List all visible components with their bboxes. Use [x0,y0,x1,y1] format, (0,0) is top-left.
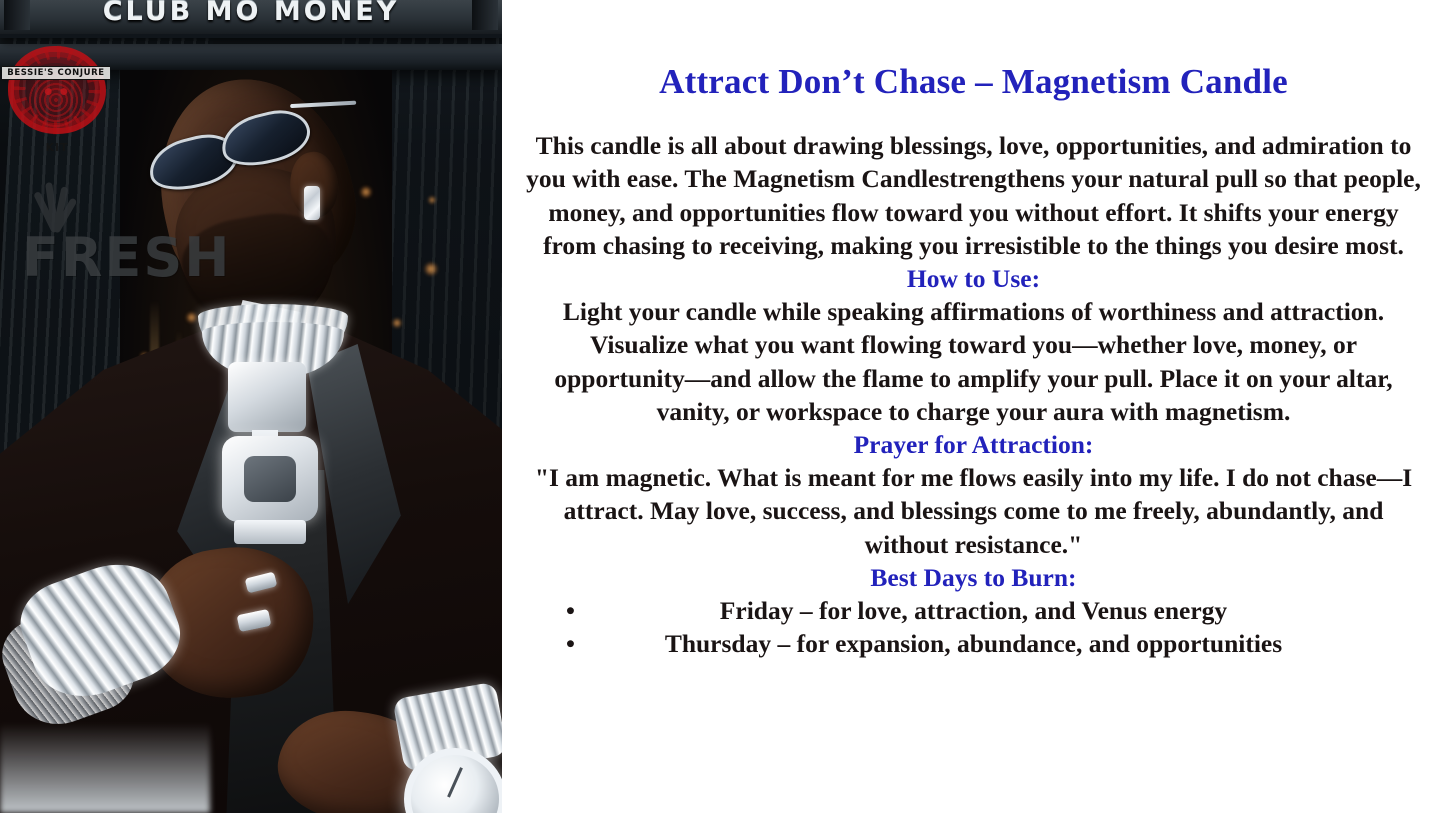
product-photo-panel: CLUB MO MONEY [0,0,502,813]
best-days-list: • Friday – for love, attraction, and Ven… [524,594,1423,660]
pendant-main [222,436,318,522]
product-photo: CLUB MO MONEY [0,0,502,813]
pendant-upper [228,362,306,432]
sidewalk-floor [0,723,210,813]
page-title: Attract Don’t Chase – Magnetism Candle [502,0,1445,102]
bullet-glyph: • [566,627,575,660]
sunglasses-temple [290,101,356,108]
list-item: • Friday – for love, attraction, and Ven… [524,594,1423,627]
section-prayer-for-attraction: Prayer for Attraction: "I am magnetic. W… [524,428,1423,561]
section-body: "I am magnetic. What is meant for me flo… [524,461,1423,561]
section-how-to-use: How to Use: Light your candle while spea… [524,262,1423,428]
list-item-label: Friday – for love, attraction, and Venus… [720,596,1227,625]
section-best-days-to-burn: Best Days to Burn: • Friday – for love, … [524,561,1423,661]
product-description-content: Attract Don’t Chase – Magnetism Candle T… [502,0,1445,813]
product-description-page: CLUB MO MONEY [0,0,1445,813]
model-figure [0,0,502,813]
section-heading: Prayer for Attraction: [524,428,1423,461]
list-item-label: Thursday – for expansion, abundance, and… [665,629,1282,658]
bullet-glyph: • [566,594,575,627]
pendant-base [234,520,306,544]
section-heading: Best Days to Burn: [524,561,1423,594]
section-body: Light your candle while speaking affirma… [524,295,1423,428]
intro-paragraph: This candle is all about drawing blessin… [524,129,1423,262]
list-item: • Thursday – for expansion, abundance, a… [524,627,1423,660]
section-heading: How to Use: [524,262,1423,295]
diamond-earring [304,186,320,220]
description-body: This candle is all about drawing blessin… [502,129,1445,660]
